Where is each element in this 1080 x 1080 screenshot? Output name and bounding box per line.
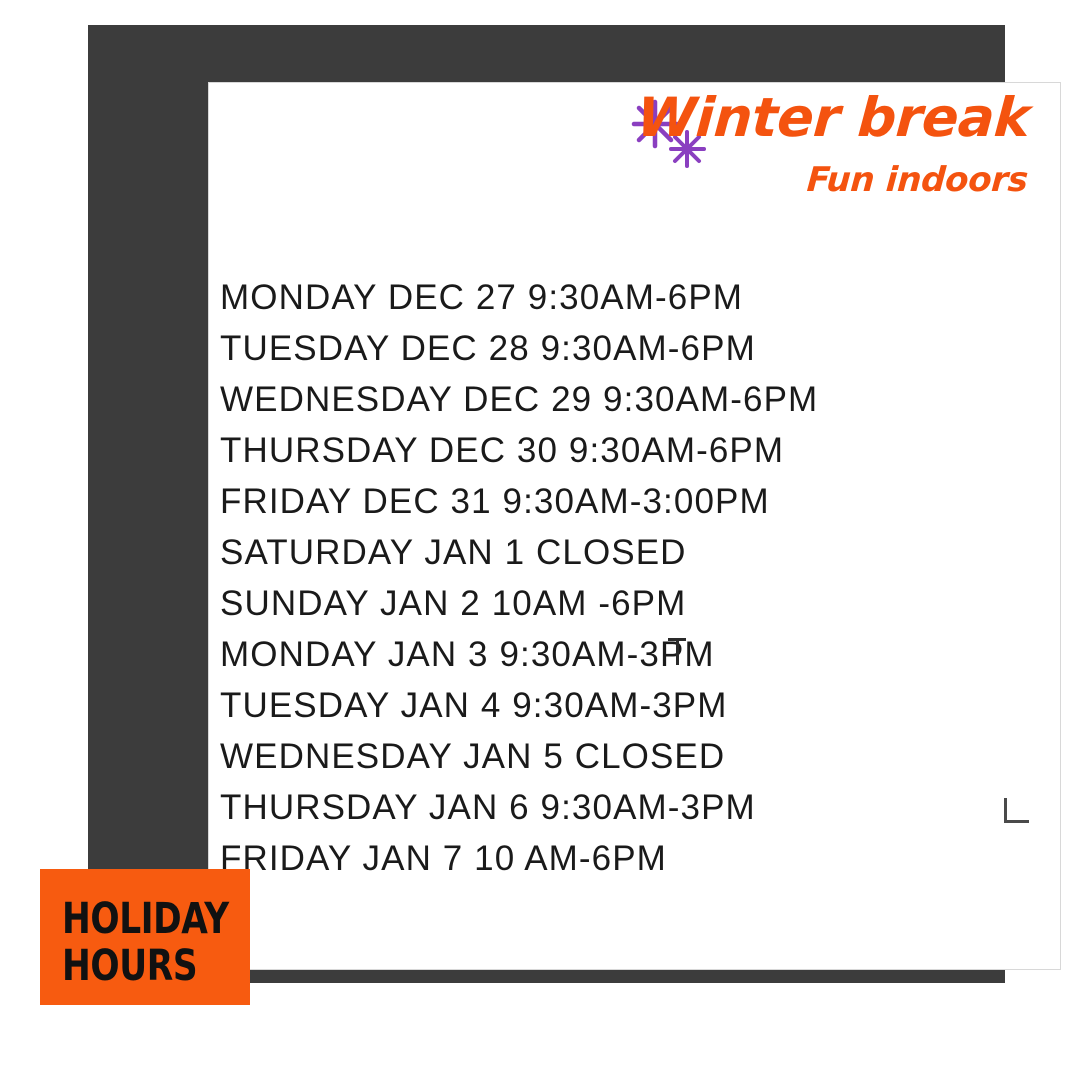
holiday-hours-badge: HOLIDAY HOURS xyxy=(40,869,250,1005)
schedule-line: THURSDAY DEC 30 9:30AM-6PM xyxy=(220,425,920,476)
header-block: Winter break Fun indoors xyxy=(610,85,1030,215)
text-caret-icon xyxy=(668,638,686,665)
badge-line-hours: HOURS xyxy=(62,945,197,988)
schedule-line: WEDNESDAY JAN 5 CLOSED xyxy=(220,731,920,782)
schedule-line: THURSDAY JAN 6 9:30AM-3PM xyxy=(220,782,920,833)
badge-line-holiday: HOLIDAY xyxy=(62,898,229,941)
schedule-line: MONDAY JAN 3 9:30AM-3PM xyxy=(220,629,920,680)
schedule-line: SATURDAY JAN 1 CLOSED xyxy=(220,527,920,578)
schedule-line: WEDNESDAY DEC 29 9:30AM-6PM xyxy=(220,374,920,425)
schedule-list: MONDAY DEC 27 9:30AM-6PMTUESDAY DEC 28 9… xyxy=(220,272,920,884)
schedule-line: FRIDAY JAN 7 10 AM-6PM xyxy=(220,833,920,884)
schedule-line: MONDAY DEC 27 9:30AM-6PM xyxy=(220,272,920,323)
poster-canvas: Winter break Fun indoors MONDAY DEC 27 9… xyxy=(0,0,1080,1080)
schedule-line: TUESDAY DEC 28 9:30AM-6PM xyxy=(220,323,920,374)
schedule-line: TUESDAY JAN 4 9:30AM-3PM xyxy=(220,680,920,731)
schedule-line: FRIDAY DEC 31 9:30AM-3:00PM xyxy=(220,476,920,527)
schedule-line: SUNDAY JAN 2 10AM -6PM xyxy=(220,578,920,629)
crop-mark-icon xyxy=(1004,798,1029,823)
header-title: Winter break xyxy=(635,91,1031,145)
header-subtitle: Fun indoors xyxy=(806,163,1029,197)
